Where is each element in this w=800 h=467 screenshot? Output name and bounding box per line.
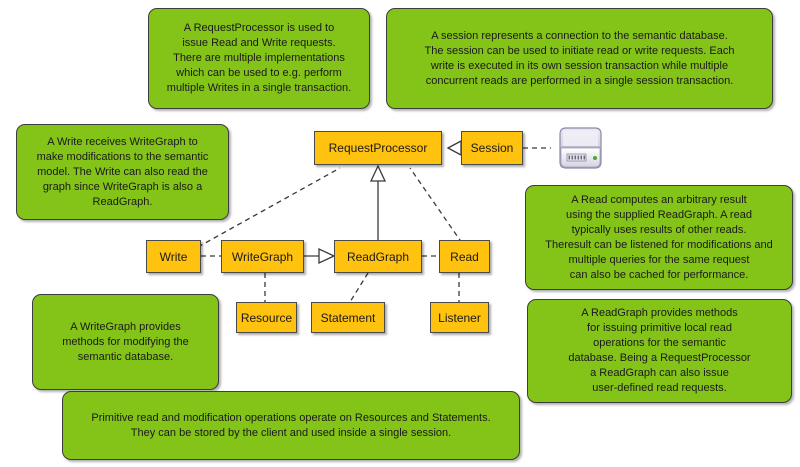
- note-session: A session represents a connection to the…: [386, 8, 773, 109]
- arrowhead-writegraph-readgraph: [319, 249, 334, 263]
- arrowhead-session-requestprocessor: [448, 141, 461, 155]
- note-request-processor: A RequestProcessor is used to issue Read…: [148, 8, 370, 109]
- note-read-graph: A ReadGraph provides methods for issuing…: [527, 299, 792, 403]
- database-server-icon-graphic: [551, 124, 603, 172]
- class-read-graph[interactable]: ReadGraph: [334, 240, 422, 273]
- class-write[interactable]: Write: [146, 240, 201, 273]
- link-read-requestprocessor: [410, 168, 462, 243]
- note-read: A Read computes an arbitrary result usin…: [525, 185, 793, 290]
- class-statement[interactable]: Statement: [311, 302, 385, 333]
- diagram-canvas: A RequestProcessor is used to issue Read…: [0, 0, 800, 467]
- link-readgraph-statement: [350, 273, 368, 302]
- class-session[interactable]: Session: [461, 131, 523, 165]
- arrowhead-readgraph-requestprocessor: [371, 166, 385, 181]
- class-listener[interactable]: Listener: [430, 302, 489, 333]
- class-write-graph[interactable]: WriteGraph: [221, 240, 304, 273]
- class-read[interactable]: Read: [439, 240, 490, 273]
- class-resource[interactable]: Resource: [236, 302, 297, 333]
- database-server-icon: [551, 124, 603, 172]
- note-write-graph: A WriteGraph provides methods for modify…: [32, 294, 219, 390]
- class-request-processor[interactable]: RequestProcessor: [314, 131, 442, 165]
- note-primitives: Primitive read and modification operatio…: [62, 391, 520, 460]
- note-write: A Write receives WriteGraph to make modi…: [16, 124, 229, 220]
